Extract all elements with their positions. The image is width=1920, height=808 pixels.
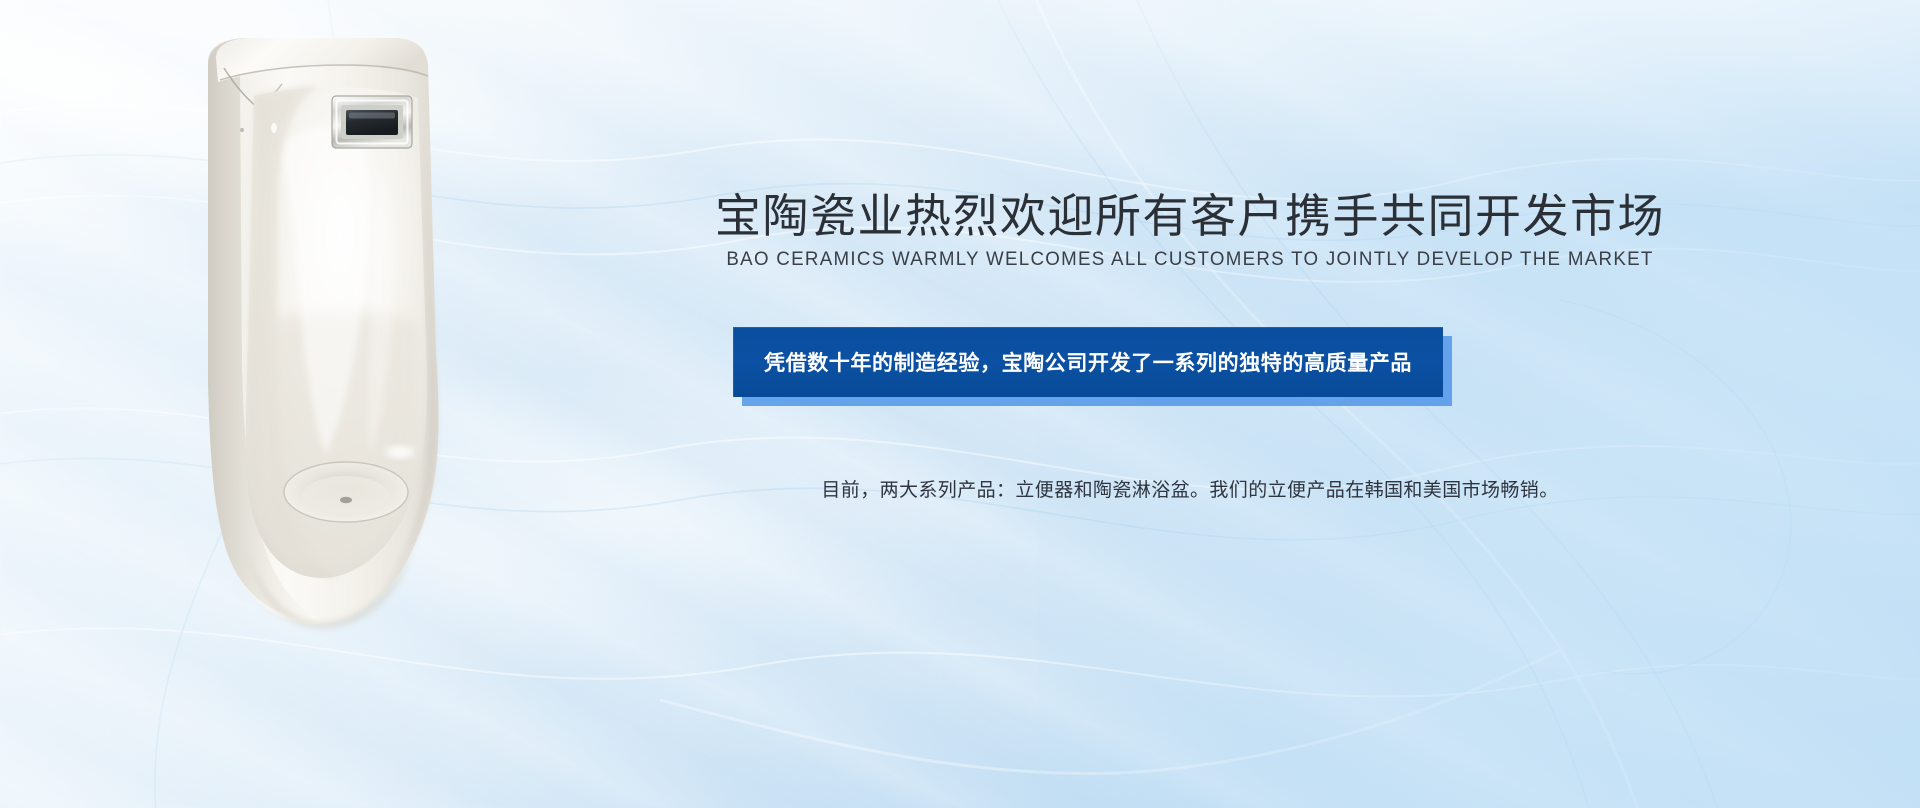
ribbon-bar: 凭借数十年的制造经验，宝陶公司开发了一系列的独特的高质量产品 bbox=[733, 327, 1443, 397]
ribbon-label: 凭借数十年的制造经验，宝陶公司开发了一系列的独特的高质量产品 bbox=[764, 347, 1412, 377]
highlight-ribbon: 凭借数十年的制造经验，宝陶公司开发了一系列的独特的高质量产品 bbox=[733, 327, 1443, 397]
hero-banner: 宝陶瓷业热烈欢迎所有客户携手共同开发市场 BAO CERAMICS WARMLY… bbox=[0, 0, 1920, 808]
hero-copy-block: 宝陶瓷业热烈欢迎所有客户携手共同开发市场 BAO CERAMICS WARMLY… bbox=[600, 190, 1780, 502]
product-summary-text: 目前，两大系列产品：立便器和陶瓷淋浴盆。我们的立便产品在韩国和美国市场畅销。 bbox=[600, 475, 1780, 502]
page-title: 宝陶瓷业热烈欢迎所有客户携手共同开发市场 bbox=[600, 190, 1780, 242]
product-image-urinal bbox=[150, 22, 510, 642]
page-subtitle: BAO CERAMICS WARMLY WELCOMES ALL CUSTOME… bbox=[624, 248, 1757, 271]
